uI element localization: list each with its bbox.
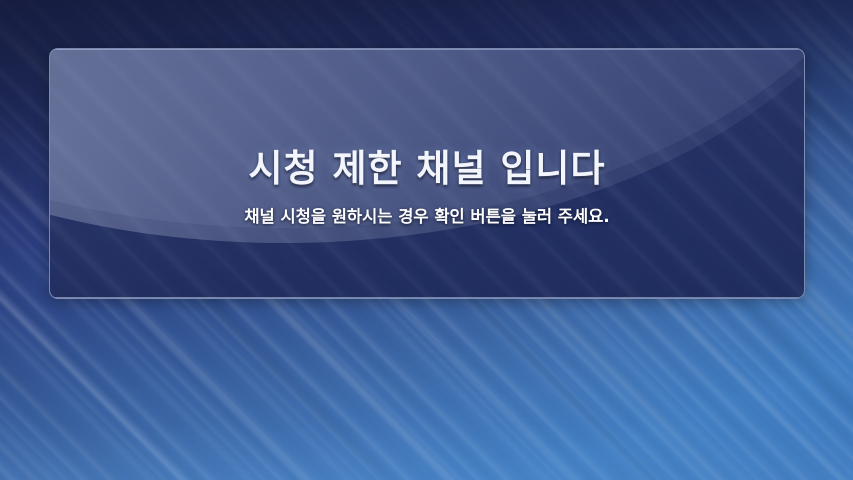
tv-osd-screen: 시청 제한 채널 입니다 채널 시청을 원하시는 경우 확인 버튼을 눌러 주세…	[0, 0, 853, 480]
dialog-title: 시청 제한 채널 입니다	[248, 149, 605, 189]
viewing-restriction-dialog: 시청 제한 채널 입니다 채널 시청을 원하시는 경우 확인 버튼을 눌러 주세…	[49, 48, 805, 299]
dialog-content: 시청 제한 채널 입니다 채널 시청을 원하시는 경우 확인 버튼을 눌러 주세…	[50, 49, 804, 298]
dialog-subtitle: 채널 시청을 원하시는 경우 확인 버튼을 눌러 주세요.	[244, 203, 609, 227]
